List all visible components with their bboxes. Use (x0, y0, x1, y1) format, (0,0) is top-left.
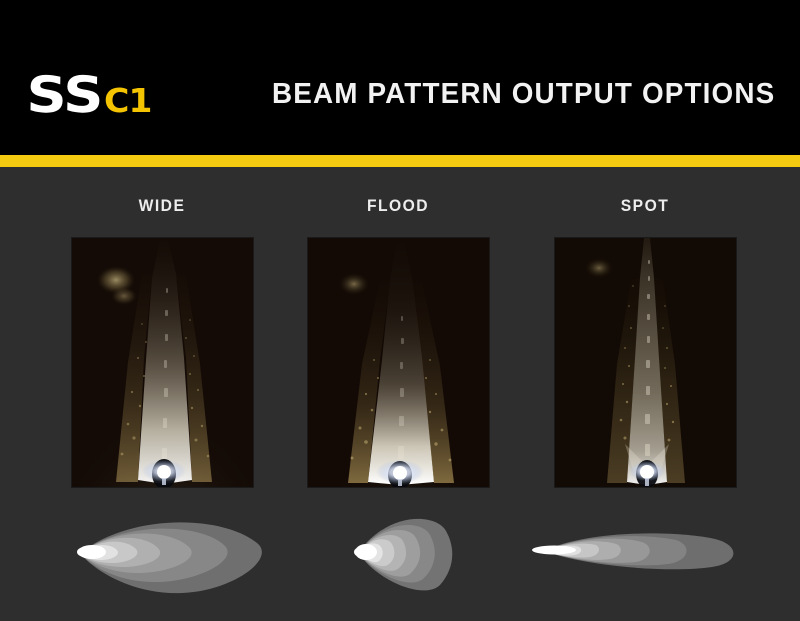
column-label-wide: WIDE (79, 196, 245, 216)
photo-spot-graphic (555, 238, 736, 487)
beam-diagram-spot (500, 505, 750, 600)
column-label-flood: FLOOD (315, 196, 481, 216)
beam-diagram-flood (340, 505, 520, 600)
photo-flood-graphic (308, 238, 489, 487)
logo-text-primary: SS (26, 70, 103, 120)
beam-diagram-spot-graphic (500, 505, 750, 600)
beam-diagram-flood-graphic (340, 505, 520, 600)
logo-text-secondary: C1 (104, 84, 151, 117)
photo-flood (308, 238, 489, 487)
product-logo: SS C1 (26, 70, 149, 130)
column-label-spot: SPOT (562, 196, 728, 216)
page-title: BEAM PATTERN OUTPUT OPTIONS (272, 78, 775, 111)
accent-divider-bar (0, 155, 800, 167)
photo-wide-graphic (72, 238, 253, 487)
beam-pattern-infographic: SS C1 BEAM PATTERN OUTPUT OPTIONS WIDE F… (0, 0, 800, 621)
beam-diagram-wide (72, 505, 292, 600)
photo-spot (555, 238, 736, 487)
beam-diagram-wide-graphic (72, 505, 292, 600)
photo-wide (72, 238, 253, 487)
header-bar: SS C1 BEAM PATTERN OUTPUT OPTIONS (0, 0, 800, 155)
